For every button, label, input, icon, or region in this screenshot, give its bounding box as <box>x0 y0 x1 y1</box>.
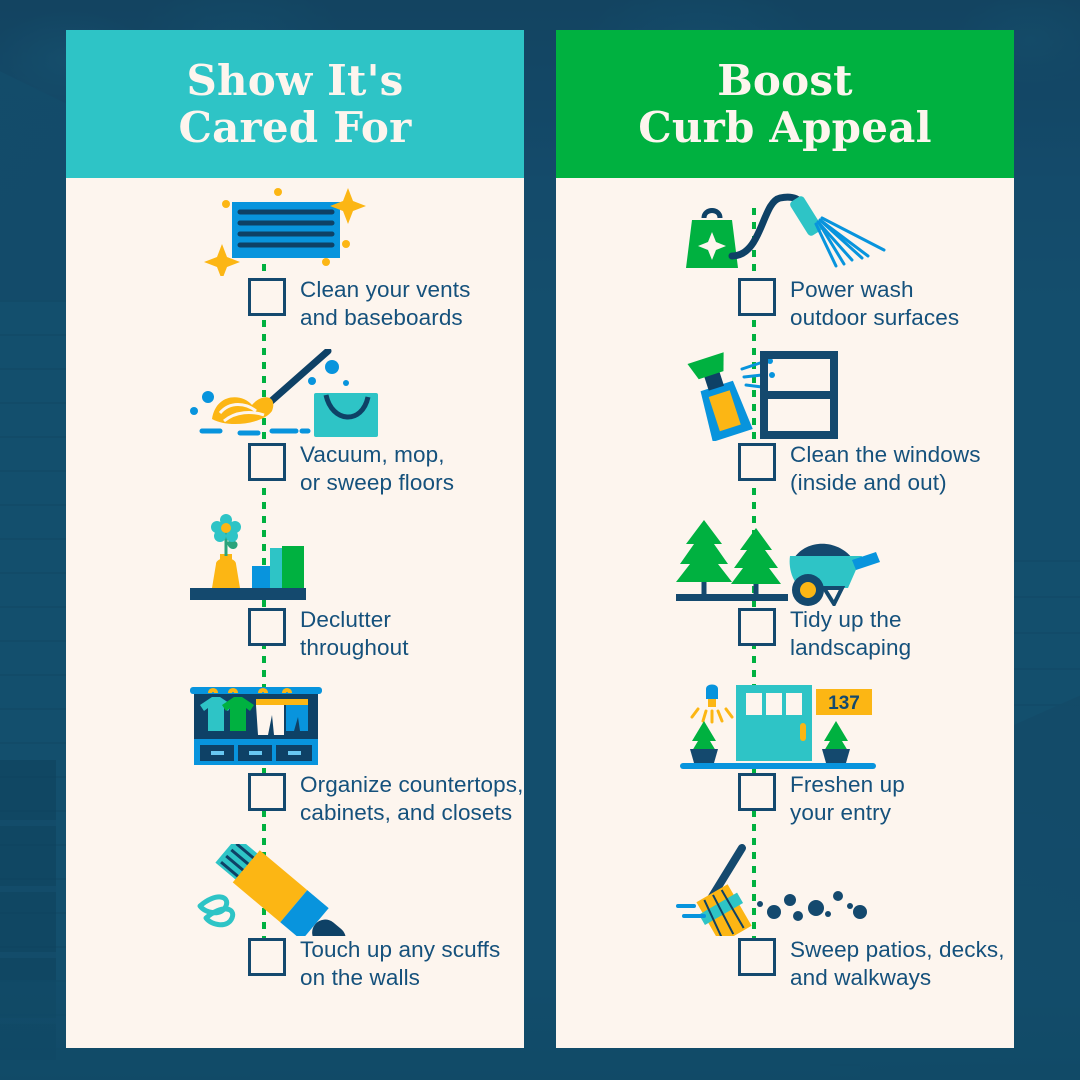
checklist-row[interactable]: Power wash outdoor surfaces <box>738 276 959 332</box>
checkbox[interactable] <box>738 773 776 811</box>
list-item[interactable]: 137 <box>556 679 1014 844</box>
checklist-row[interactable]: Declutter throughout <box>248 606 409 662</box>
mop-and-bucket-icon <box>186 349 446 441</box>
card-title-right: Boost Curb Appeal <box>638 57 932 151</box>
list-item[interactable]: Clean your vents and baseboards <box>66 184 524 349</box>
list-item[interactable]: Sweep patios, decks, and walkways <box>556 844 1014 1009</box>
checklist-row[interactable]: Freshen up your entry <box>738 771 905 827</box>
checklist-row[interactable]: Organize countertops, cabinets, and clos… <box>248 771 523 827</box>
checklist-row[interactable]: Touch up any scuffs on the walls <box>248 936 500 992</box>
checklist-items-right: Power wash outdoor surfaces <box>556 178 1014 1009</box>
list-item[interactable]: Declutter throughout <box>66 514 524 679</box>
checkbox[interactable] <box>738 938 776 976</box>
closet-clothes-icon <box>186 679 446 771</box>
checkbox[interactable] <box>248 608 286 646</box>
card-body-left: Clean your vents and baseboards <box>66 178 524 1048</box>
checklist-row[interactable]: Sweep patios, decks, and walkways <box>738 936 1005 992</box>
list-item[interactable]: Vacuum, mop, or sweep floors <box>66 349 524 514</box>
list-item[interactable]: Clean the windows (inside and out) <box>556 349 1014 514</box>
checkbox[interactable] <box>738 608 776 646</box>
paintbrush-icon <box>186 844 446 936</box>
checkbox[interactable] <box>248 278 286 316</box>
list-item-label: Sweep patios, decks, and walkways <box>790 936 1005 992</box>
checkbox[interactable] <box>248 938 286 976</box>
air-vent-sparkle-icon <box>186 184 446 276</box>
list-item-label: Touch up any scuffs on the walls <box>300 936 500 992</box>
checkbox[interactable] <box>248 443 286 481</box>
checklist-card-show-its-cared-for: Show It's Cared For <box>66 30 524 1048</box>
list-item-label: Tidy up the landscaping <box>790 606 911 662</box>
checklist-row[interactable]: Clean the windows (inside and out) <box>738 441 981 497</box>
list-item-label: Clean the windows (inside and out) <box>790 441 981 497</box>
checklist-row[interactable]: Vacuum, mop, or sweep floors <box>248 441 454 497</box>
list-item-label: Declutter throughout <box>300 606 409 662</box>
trees-wheelbarrow-icon <box>676 514 936 606</box>
broom-icon <box>676 844 936 936</box>
list-item[interactable]: Power wash outdoor surfaces <box>556 184 1014 349</box>
checkbox[interactable] <box>738 278 776 316</box>
checklist-items-left: Clean your vents and baseboards <box>66 178 524 1009</box>
front-door-icon: 137 <box>676 679 936 771</box>
card-body-right: Power wash outdoor surfaces <box>556 178 1014 1048</box>
list-item[interactable]: Touch up any scuffs on the walls <box>66 844 524 1009</box>
card-title-left: Show It's Cared For <box>179 57 412 151</box>
list-item-label: Clean your vents and baseboards <box>300 276 470 332</box>
checklist-row[interactable]: Tidy up the landscaping <box>738 606 911 662</box>
spray-bottle-window-icon <box>676 349 936 441</box>
checkbox[interactable] <box>738 443 776 481</box>
list-item[interactable]: Tidy up the landscaping <box>556 514 1014 679</box>
house-number-text: 137 <box>828 693 860 714</box>
power-washer-icon <box>676 184 936 276</box>
list-item-label: Organize countertops, cabinets, and clos… <box>300 771 523 827</box>
list-item[interactable]: Organize countertops, cabinets, and clos… <box>66 679 524 844</box>
list-item-label: Power wash outdoor surfaces <box>790 276 959 332</box>
card-header-left: Show It's Cared For <box>66 30 524 178</box>
list-item-label: Freshen up your entry <box>790 771 905 827</box>
checklist-card-boost-curb-appeal: Boost Curb Appeal <box>556 30 1014 1048</box>
checklist-row[interactable]: Clean your vents and baseboards <box>248 276 470 332</box>
card-header-right: Boost Curb Appeal <box>556 30 1014 178</box>
list-item-label: Vacuum, mop, or sweep floors <box>300 441 454 497</box>
shelf-vase-books-icon <box>186 514 446 606</box>
checkbox[interactable] <box>248 773 286 811</box>
